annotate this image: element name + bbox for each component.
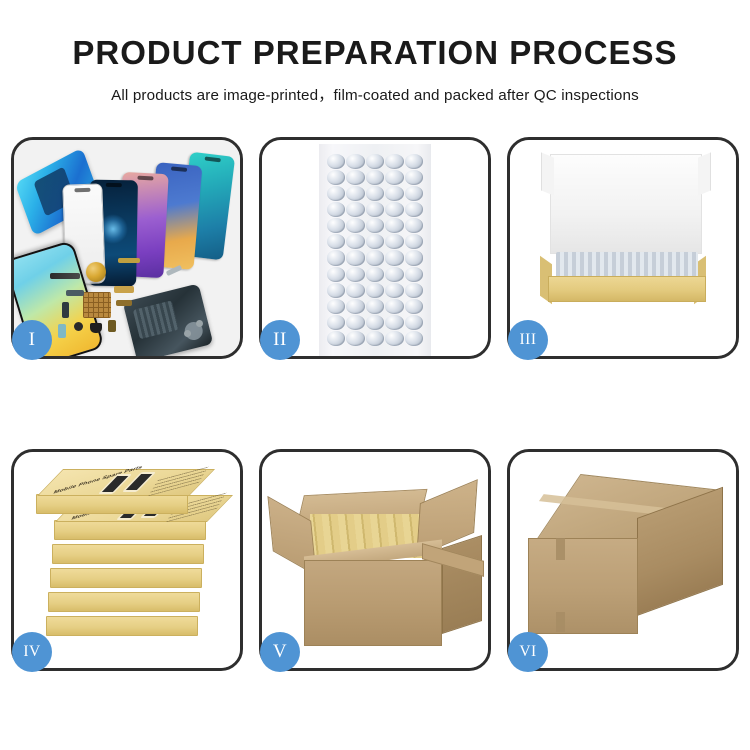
- retail-box: [48, 592, 200, 612]
- process-step-panel-4[interactable]: Mobile Phone Spare Parts Mobile Phone Sp…: [11, 449, 243, 671]
- step-4-illustration: Mobile Phone Spare Parts Mobile Phone Sp…: [14, 452, 240, 668]
- inner-box-front-panel: [548, 276, 706, 302]
- page-subtitle: All products are image-printed，film-coat…: [0, 83, 750, 105]
- bubble-wrapped-contents: [556, 252, 698, 278]
- camera-module-part-icon: [90, 323, 102, 333]
- step-badge-3: III: [508, 320, 548, 360]
- step-5-illustration: [262, 452, 488, 668]
- step-6-illustration: [510, 452, 736, 668]
- sealed-carton-front-face: [528, 538, 638, 634]
- step-badge-2: II: [260, 320, 300, 360]
- step-badge-1: I: [12, 320, 52, 360]
- retail-box-top-face: Mobile Phone Spare Parts: [37, 469, 215, 496]
- screw-icon: [184, 330, 191, 337]
- gold-flex-part-icon: [114, 286, 134, 293]
- notch-icon: [171, 166, 187, 171]
- button-part-icon: [74, 322, 83, 331]
- step-badge-4: IV: [12, 632, 52, 672]
- copper-coil-part-icon: [86, 262, 106, 282]
- step-badge-6: VI: [508, 632, 548, 672]
- notch-icon: [74, 188, 90, 193]
- retail-box-labeled: Mobile Phone Spare Parts: [36, 494, 188, 514]
- connector-part-icon: [62, 302, 69, 318]
- antenna-strip-part-icon: [118, 258, 140, 263]
- process-step-panel-1[interactable]: I: [11, 137, 243, 359]
- retail-box: [52, 544, 204, 564]
- notch-icon: [204, 156, 220, 162]
- process-step-grid: I II: [11, 137, 739, 671]
- inner-box-lid: [550, 154, 702, 254]
- earpiece-part-icon: [50, 273, 80, 279]
- bubble-grid: [327, 154, 423, 346]
- process-step-panel-2[interactable]: II: [259, 137, 491, 359]
- packing-tape-seam-upper: [556, 538, 565, 560]
- process-step-panel-5[interactable]: V: [259, 449, 491, 671]
- gold-bracket-part-icon: [116, 300, 132, 306]
- sim-tray-part-icon: [108, 320, 116, 332]
- step-2-illustration: [262, 140, 488, 356]
- spec-text-lines: [148, 466, 209, 497]
- page-title: PRODUCT PREPARATION PROCESS: [0, 34, 750, 72]
- notch-icon: [106, 183, 122, 187]
- carton-front-panel: [304, 560, 442, 646]
- bubble-wrap-sheet: [319, 144, 431, 356]
- chip-grid-part-icon: [83, 292, 111, 318]
- process-step-panel-6[interactable]: VI: [507, 449, 739, 671]
- notch-icon: [137, 176, 153, 181]
- retail-box: [46, 616, 198, 636]
- step-1-illustration: [14, 140, 240, 356]
- screw-icon: [196, 320, 203, 327]
- process-step-panel-3[interactable]: III: [507, 137, 739, 359]
- retail-box-stack: Mobile Phone Spare Parts Mobile Phone Sp…: [18, 466, 238, 662]
- step-badge-5: V: [260, 632, 300, 672]
- retail-box-labeled: Mobile Phone Spare Parts: [54, 520, 206, 540]
- step-3-illustration: [510, 140, 736, 356]
- retail-box: [50, 568, 202, 588]
- battery-connector-part-icon: [58, 324, 66, 338]
- packing-tape-seam-lower: [556, 612, 565, 632]
- flex-cable-part-icon: [66, 290, 84, 296]
- page-header: PRODUCT PREPARATION PROCESS All products…: [0, 0, 750, 105]
